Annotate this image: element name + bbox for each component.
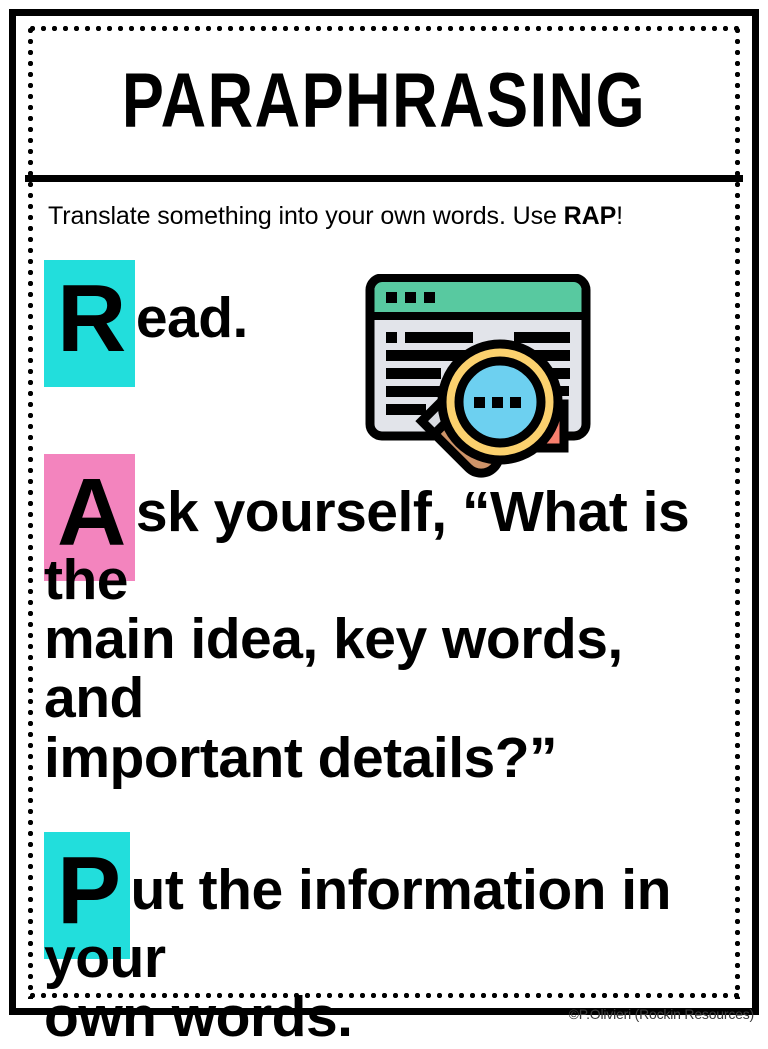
dotted-border-top [27, 25, 741, 32]
rap-step-ask-line-0: Ask yourself, “What is the [44, 476, 730, 610]
poster-frame: PARAPHRASING Translate something into yo… [9, 9, 759, 1015]
dotted-border-left [27, 25, 34, 999]
rap-step-put-line-1: own words. [44, 988, 730, 1047]
rap-step-ask-line-2: important details?” [44, 729, 730, 788]
subtitle-before: Translate something into your own words.… [48, 202, 564, 230]
rap-letter-r: R [44, 282, 135, 357]
rap-step-ask: Ask yourself, “What is the main idea, ke… [44, 476, 730, 788]
rap-step-ask-line-1: main idea, key words, and [44, 610, 730, 729]
rap-step-put-text-0: ut the information in your [44, 858, 671, 990]
subtitle-after: ! [616, 202, 623, 230]
dotted-border-right [734, 25, 741, 999]
poster-inner: PARAPHRASING Translate something into yo… [16, 16, 752, 1008]
title-divider [25, 175, 743, 182]
rap-step-read-line-0: Read. [44, 282, 730, 357]
rap-letter-a: A [44, 476, 135, 551]
rap-step-put-line-0: Put the information in your [44, 854, 730, 988]
rap-steps-list: Read. Ask yourself, “What is the main id… [44, 268, 730, 1047]
rap-step-read-text: ead. [136, 286, 248, 350]
subtitle: Translate something into your own words.… [48, 201, 728, 232]
subtitle-emphasis: RAP [564, 202, 616, 230]
rap-step-put: Put the information in your own words. [44, 854, 730, 1047]
title-block: PARAPHRASING [38, 38, 730, 164]
rap-step-ask-text-0: sk yourself, “What is the [44, 480, 689, 612]
page-title: PARAPHRASING [122, 63, 646, 140]
rap-step-read: Read. [44, 282, 730, 454]
rap-letter-p: P [44, 854, 130, 929]
